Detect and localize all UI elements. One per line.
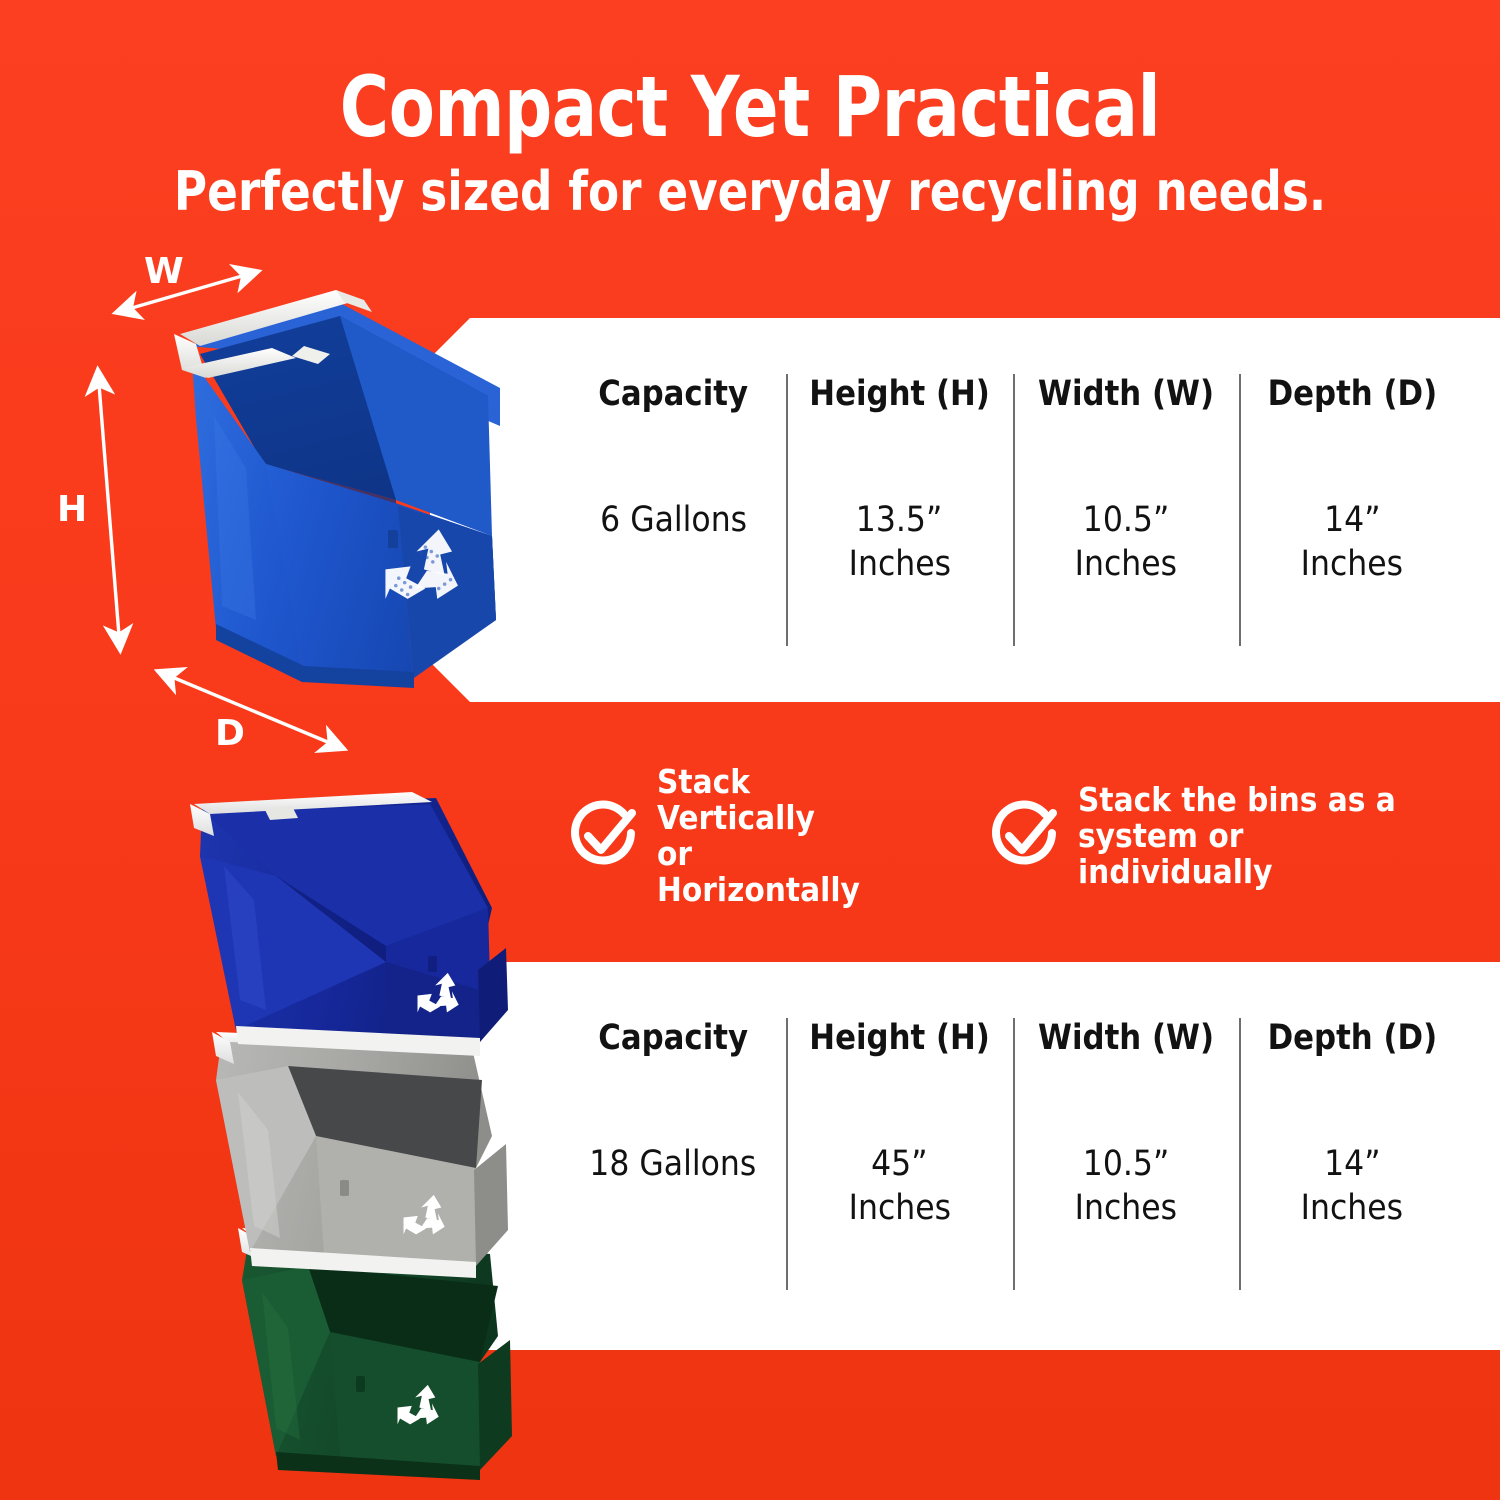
stacked-bins-image (180, 780, 525, 1480)
depth-arrow (160, 672, 342, 748)
column-header-depth: Depth (D) (1267, 374, 1437, 414)
spec-column-capacity: Capacity 6 Gallons (560, 352, 786, 602)
cell-width-value: 10.5” (1082, 1142, 1168, 1186)
spec-column-height: Height (H) 45” Inches (786, 996, 1012, 1246)
cell-depth-value: 14” (1324, 498, 1380, 542)
cell-height-unit: Inches (848, 542, 950, 586)
column-header-height: Height (H) (809, 374, 990, 414)
column-header-depth: Depth (D) (1267, 1018, 1437, 1058)
height-arrow (98, 372, 120, 648)
spec-column-capacity: Capacity 18 Gallons (560, 996, 786, 1246)
feature-item-stack-system: Stack the bins as a system or individual… (986, 790, 1465, 882)
feature-label: Stack Vertically or Horizontally (657, 764, 901, 908)
cell-depth-unit: Inches (1301, 1186, 1403, 1230)
cell-width-unit: Inches (1074, 542, 1176, 586)
depth-label: D (215, 716, 245, 752)
stacked-bins-illustration (180, 780, 525, 1480)
cell-depth-value: 14” (1324, 1142, 1380, 1186)
infographic-canvas: Compact Yet Practical Perfectly sized fo… (0, 0, 1500, 1500)
feature-item-stack-orientation: Stack Vertically or Horizontally (565, 790, 928, 882)
width-label: W (144, 254, 184, 290)
spec-column-width: Width (W) 10.5” Inches (1013, 352, 1239, 602)
cell-depth-unit: Inches (1301, 542, 1403, 586)
spec-table-stacked: Capacity 18 Gallons Height (H) 45” Inche… (560, 996, 1465, 1246)
feature-list: Stack Vertically or Horizontally Stack t… (565, 790, 1465, 882)
check-circle-icon (565, 797, 643, 875)
spec-table-single: Capacity 6 Gallons Height (H) 13.5” Inch… (560, 352, 1465, 602)
height-label: H (57, 492, 87, 528)
bin-blue-top (190, 792, 508, 1056)
cell-capacity: 18 Gallons (590, 1142, 757, 1186)
column-header-height: Height (H) (809, 1018, 990, 1058)
column-header-capacity: Capacity (598, 1018, 748, 1058)
feature-label: Stack the bins as a system or individual… (1078, 782, 1426, 890)
cell-height-unit: Inches (848, 1186, 950, 1230)
spec-column-depth: Depth (D) 14” Inches (1239, 996, 1465, 1246)
cell-width-value: 10.5” (1082, 498, 1168, 542)
cell-height-value: 13.5” (856, 498, 942, 542)
check-circle-icon (986, 797, 1064, 875)
cell-width-unit: Inches (1074, 1186, 1176, 1230)
bin-gray (212, 1032, 508, 1278)
width-arrow (118, 272, 256, 312)
spec-column-depth: Depth (D) 14” Inches (1239, 352, 1465, 602)
column-header-capacity: Capacity (598, 374, 748, 414)
column-header-width: Width (W) (1038, 1018, 1214, 1058)
cell-capacity: 6 Gallons (600, 498, 747, 542)
cell-height-value: 45” (871, 1142, 927, 1186)
spec-column-width: Width (W) 10.5” Inches (1013, 996, 1239, 1246)
spec-column-height: Height (H) 13.5” Inches (786, 352, 1012, 602)
dimension-arrows (0, 0, 560, 790)
column-header-width: Width (W) (1038, 374, 1214, 414)
